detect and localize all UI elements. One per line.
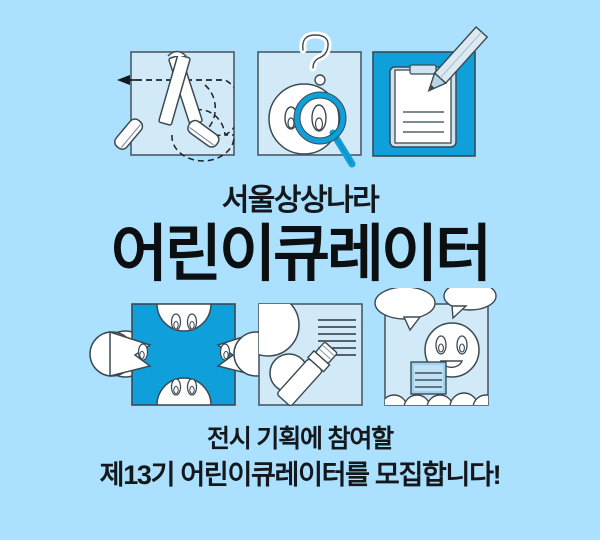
footer-line-1: 전시 기획에 참여할 [0,427,600,452]
page-title: 어린이큐레이터 [0,224,600,286]
compass-drawing-panel [112,52,240,161]
poster-canvas: 서울상상나라 어린이큐레이터 [0,0,600,540]
brand-name: 서울상상나라 [0,186,600,216]
magnifier-face-panel [258,35,361,164]
clipboard-pencil-panel [373,27,487,156]
presentation-face-panel [375,288,499,418]
illustration-row-bottom [0,288,600,428]
footer-line-2: 제13기 어린이큐레이터를 모집합니다! [0,462,600,489]
footer-line-2-rest: 를 모집합니다! [345,460,500,490]
bottom-row-artwork [0,288,600,418]
footer-line-2-strong: 제13기 어린이큐레이터 [100,460,346,490]
illustration-row-top [0,22,600,162]
four-faces-discussion-panel [90,304,278,405]
top-row-artwork [0,22,600,172]
